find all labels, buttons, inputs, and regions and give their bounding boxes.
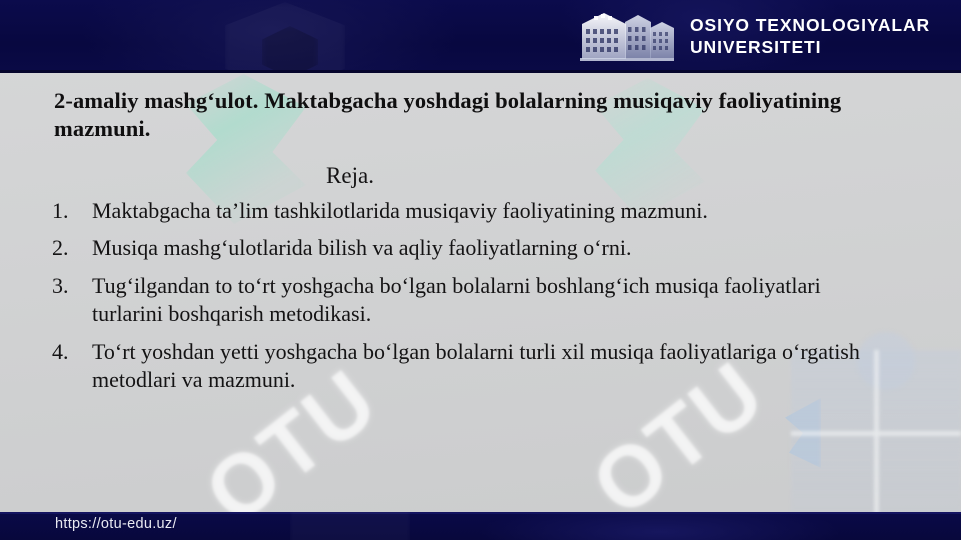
- section-heading: Reja.: [0, 162, 700, 190]
- list-item-number: 3.: [48, 272, 92, 300]
- list-item-text: Tug‘ilgandan to to‘rt yoshgacha bo‘lgan …: [92, 272, 908, 329]
- brand-name-line-2: UNIVERSITETI: [690, 36, 930, 58]
- slide-header: OSIYO TEXNOLOGIYALAR UNIVERSITETI: [0, 0, 961, 73]
- list-item: 4. To‘rt yoshdan yetti yoshgacha bo‘lgan…: [48, 338, 908, 395]
- slide-title: 2-amaliy mashg‘ulot. Maktabgacha yoshdag…: [54, 87, 884, 144]
- footer-divider: [0, 512, 961, 514]
- footer-website-link[interactable]: https://otu-edu.uz/: [55, 516, 177, 532]
- brand-name: OSIYO TEXNOLOGIYALAR UNIVERSITETI: [690, 14, 930, 59]
- footer-watermark: [290, 512, 410, 540]
- list-item-text: Maktabgacha ta’lim tashkilotlarida musiq…: [92, 197, 908, 225]
- list-item-number: 1.: [48, 197, 92, 225]
- slide-footer: https://otu-edu.uz/: [0, 512, 961, 540]
- list-item: 3. Tug‘ilgandan to to‘rt yoshgacha bo‘lg…: [48, 272, 908, 329]
- brand-name-line-1: OSIYO TEXNOLOGIYALAR: [690, 14, 930, 36]
- university-building-icon: [578, 8, 678, 64]
- agenda-list: 1. Maktabgacha ta’lim tashkilotlarida mu…: [48, 197, 908, 403]
- list-item: 2. Musiqa mashg‘ulotlarida bilish va aql…: [48, 234, 908, 262]
- list-item-number: 4.: [48, 338, 92, 366]
- presentation-slide: OTU OTU: [0, 0, 961, 540]
- list-item: 1. Maktabgacha ta’lim tashkilotlarida mu…: [48, 197, 908, 225]
- list-item-number: 2.: [48, 234, 92, 262]
- list-item-text: To‘rt yoshdan yetti yoshgacha bo‘lgan bo…: [92, 338, 908, 395]
- brand-lockup: OSIYO TEXNOLOGIYALAR UNIVERSITETI: [578, 8, 930, 64]
- list-item-text: Musiqa mashg‘ulotlarida bilish va aqliy …: [92, 234, 908, 262]
- slide-content: 2-amaliy mashg‘ulot. Maktabgacha yoshdag…: [0, 73, 961, 512]
